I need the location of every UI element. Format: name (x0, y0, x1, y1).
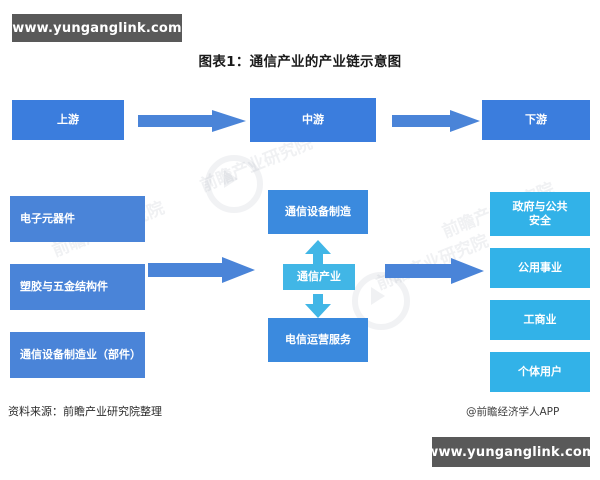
midstream-box-telecom-operation-services: 电信运营服务 (268, 318, 368, 362)
arrow-hub-to-telecom-services (305, 294, 331, 318)
arrow-hub-to-downstream-column (385, 258, 490, 284)
tier-box-downstream: 下游 (482, 100, 590, 140)
upstream-box-electronic-components: 电子元器件 (10, 196, 145, 242)
watermark-badge-top: www.yunganglink.com (12, 14, 182, 42)
background-logo-icon (205, 155, 263, 213)
downstream-box-industry-commerce: 工商业 (490, 300, 590, 340)
chart-title: 图表1：通信产业的产业链示意图 (0, 50, 600, 70)
upstream-box-plastic-hardware-structures: 塑胶与五金结构件 (10, 264, 145, 310)
arrow-upstream-column-to-hub (148, 257, 260, 283)
upstream-box-comm-equipment-parts: 通信设备制造业（部件） (10, 332, 145, 378)
tier-box-upstream: 上游 (12, 100, 124, 140)
arrow-hub-to-equipment-manufacturing (305, 240, 331, 264)
app-credit: @前瞻经济学人APP (466, 404, 559, 419)
midstream-box-equipment-manufacturing: 通信设备制造 (268, 190, 368, 234)
downstream-box-individual-users: 个体用户 (490, 352, 590, 392)
arrow-midstream-to-downstream (392, 110, 482, 132)
midstream-box-communications-industry: 通信产业 (283, 264, 355, 290)
arrow-upstream-to-midstream (138, 110, 246, 132)
watermark-badge-bottom: www.yunganglink.com (432, 437, 590, 467)
downstream-box-public-utilities: 公用事业 (490, 248, 590, 288)
tier-box-midstream: 中游 (250, 98, 376, 142)
source-note: 资料来源：前瞻产业研究院整理 (8, 403, 162, 419)
downstream-box-government-public-safety: 政府与公共 安全 (490, 192, 590, 236)
diagram-canvas: 前瞻产业研究院 前瞻产业研究院 前瞻产业研究院 前瞻产业研究院 www.yung… (0, 0, 600, 480)
